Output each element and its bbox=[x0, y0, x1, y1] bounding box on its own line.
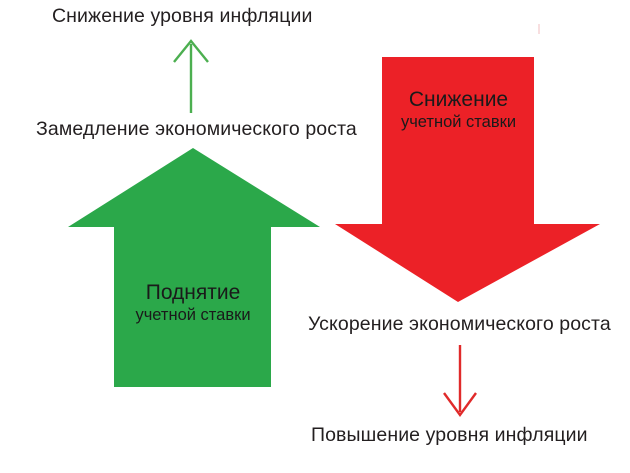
green-arrow-subtitle: учетной ставки bbox=[114, 306, 272, 325]
green-up-arrow-shape bbox=[68, 148, 320, 387]
label-growth-acceleration: Ускорение экономического роста bbox=[308, 313, 611, 335]
green-arrow-title: Поднятие bbox=[114, 281, 272, 306]
diagram-canvas: Снижение уровня инфляции Замедление экон… bbox=[0, 0, 630, 473]
diagram-shapes bbox=[0, 0, 630, 473]
red-arrow-subtitle: учетной ставки bbox=[382, 113, 535, 132]
green-arrow-label: Поднятие учетной ставки bbox=[114, 281, 272, 325]
red-thin-arrow-icon bbox=[444, 345, 476, 415]
red-arrow-title: Снижение bbox=[382, 88, 535, 113]
red-arrow-label: Снижение учетной ставки bbox=[382, 88, 535, 132]
label-inflation-up: Повышение уровня инфляции bbox=[311, 424, 588, 446]
label-inflation-down: Снижение уровня инфляции bbox=[52, 5, 312, 27]
green-thin-arrow-icon bbox=[174, 41, 208, 113]
label-growth-slowdown: Замедление экономического роста bbox=[36, 118, 357, 140]
